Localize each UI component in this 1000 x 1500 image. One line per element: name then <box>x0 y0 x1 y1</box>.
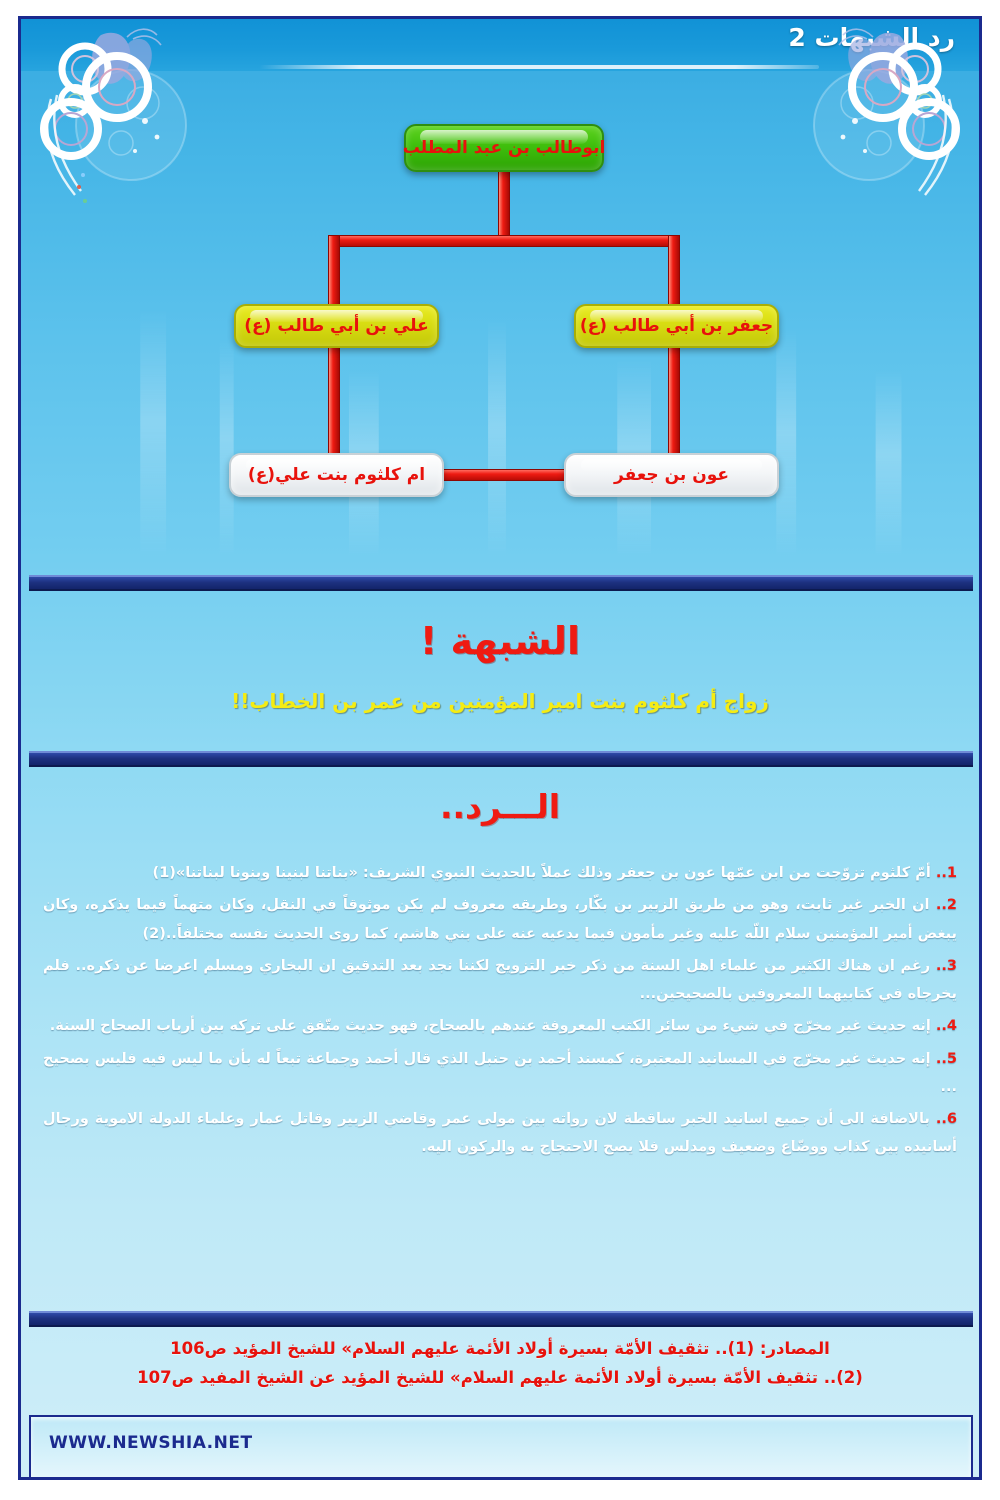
source-line-1: المصادر: (1).. تثقيف الأمّة بسيرة أولاد … <box>41 1335 959 1364</box>
response-point-text: إنه حديث غير مخرّج في شيء من سائر الكتب … <box>50 1018 931 1034</box>
tree-connector-jaafar-to-awn <box>668 341 680 469</box>
tree-node-ali-label: علي بن أبي طالب (ع) <box>244 316 428 336</box>
tree-node-root-label: ابوطالب بن عبد المطلب <box>403 138 606 158</box>
tree-connector-root-vertical <box>498 169 510 241</box>
tree-node-awn-label: عون بن جعفر <box>614 465 729 485</box>
tree-node-umkulthum[interactable]: ام كلثوم بنت علي(ع) <box>229 453 444 497</box>
shubha-title: الشبهة ! <box>21 619 979 663</box>
content-frame: رد الشبهات 2 <box>18 16 982 1480</box>
separator-bar-3 <box>29 1311 973 1327</box>
shubha-text: زواج أم كلثوم بنت امير المؤمنين من عمر ب… <box>21 689 979 713</box>
response-point-number: 5.. <box>936 1051 957 1067</box>
source-line-2: (2).. تثقيف الأمّة بسيرة أولاد الأئمة عل… <box>41 1364 959 1393</box>
website-url[interactable]: WWW.NEWSHIA.NET <box>49 1433 253 1453</box>
tree-node-jaafar-label: جعفر بن أبي طالب (ع) <box>580 316 773 336</box>
tree-connector-horizontal <box>328 235 680 247</box>
family-tree: ابوطالب بن عبد المطلب جعفر بن أبي طالب (… <box>21 19 979 559</box>
response-point-text: أمّ كلثوم تزوّجت من ابن عمّها عون بن جعف… <box>153 865 931 881</box>
tree-node-root[interactable]: ابوطالب بن عبد المطلب <box>404 124 604 172</box>
header-section: رد الشبهات 2 <box>21 19 979 559</box>
response-point: 4.. إنه حديث غير مخرّج في شيء من سائر ال… <box>43 1012 957 1040</box>
response-point-text: بالاضافة الى أن جميع اسانيد الخبر ساقطة … <box>43 1111 957 1155</box>
infographic-page: رد الشبهات 2 <box>0 0 1000 1500</box>
tree-node-ali[interactable]: علي بن أبي طالب (ع) <box>234 304 439 348</box>
response-title: الـــرد.. <box>21 787 979 826</box>
response-points-list: 1.. أمّ كلثوم تزوّجت من ابن عمّها عون بن… <box>43 859 957 1166</box>
response-point-number: 1.. <box>936 865 957 881</box>
response-point: 1.. أمّ كلثوم تزوّجت من ابن عمّها عون بن… <box>43 859 957 887</box>
response-point-number: 2.. <box>936 897 957 913</box>
response-point-number: 6.. <box>936 1111 957 1127</box>
response-point: 5.. إنه حديث غير مخرّج في المسانيد المعت… <box>43 1045 957 1102</box>
tree-connector-left-down <box>328 235 340 307</box>
sources-section: المصادر: (1).. تثقيف الأمّة بسيرة أولاد … <box>41 1335 959 1393</box>
tree-node-umkulthum-label: ام كلثوم بنت علي(ع) <box>248 465 425 485</box>
response-point: 3.. رغم ان هناك الكثير من علماء اهل السن… <box>43 952 957 1009</box>
separator-bar-2 <box>29 751 973 767</box>
tree-node-jaafar[interactable]: جعفر بن أبي طالب (ع) <box>574 304 779 348</box>
response-point-text: رغم ان هناك الكثير من علماء اهل السنة من… <box>43 958 957 1002</box>
footer-bar: WWW.NEWSHIA.NET <box>29 1415 973 1479</box>
shubha-section: الشبهة ! زواج أم كلثوم بنت امير المؤمنين… <box>21 619 979 713</box>
response-point-text: ان الخبر غير ثابت، وهو من طريق الزبير بن… <box>43 897 957 941</box>
tree-node-awn[interactable]: عون بن جعفر <box>564 453 779 497</box>
tree-connector-ali-to-umkulthum <box>328 341 340 469</box>
response-point-number: 4.. <box>936 1018 957 1034</box>
tree-connector-right-down <box>668 235 680 307</box>
response-point-text: إنه حديث غير مخرّج في المسانيد المعتبرة،… <box>43 1051 957 1095</box>
separator-bar-1 <box>29 575 973 591</box>
response-point: 6.. بالاضافة الى أن جميع اسانيد الخبر سا… <box>43 1105 957 1162</box>
response-point-number: 3.. <box>936 958 957 974</box>
response-point: 2.. ان الخبر غير ثابت، وهو من طريق الزبي… <box>43 891 957 948</box>
